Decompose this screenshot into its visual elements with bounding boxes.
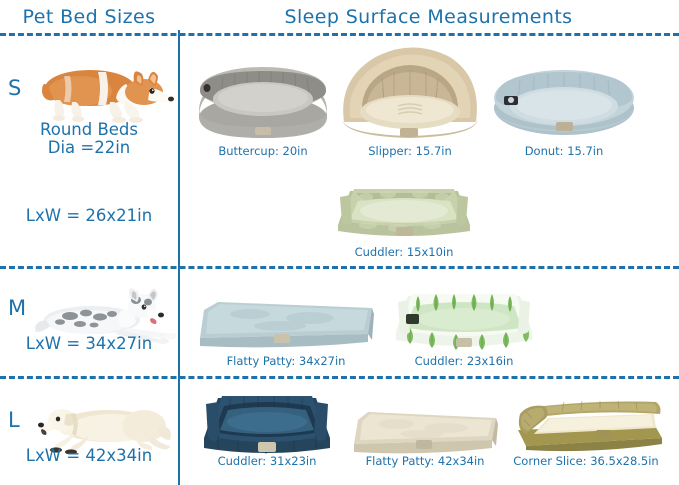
bed-label-buttercup: Buttercup: 20in (193, 144, 333, 158)
row-divider-s-m (0, 266, 679, 269)
bed-flatty-patty-large-icon (346, 404, 504, 458)
bed-donut-icon (490, 58, 638, 140)
dog-illustration-corgi (28, 58, 178, 126)
bed-slipper-icon (336, 44, 484, 140)
bed-label-flatty-patty-large: Flatty Patty: 42x34in (344, 454, 506, 468)
bed-label-cuddler-medium: Cuddler: 23x16in (388, 354, 540, 368)
medium-left-line-1: LxW = 34x27in (0, 334, 178, 353)
size-letter-l: L (8, 408, 20, 432)
page-title-right: Sleep Surface Measurements (178, 6, 679, 28)
bed-label-cuddler-small: Cuddler: 15x10in (328, 245, 480, 259)
bed-corner-slice-icon (504, 390, 668, 456)
column-divider (178, 30, 180, 485)
large-left-line-1: LxW = 42x34in (0, 446, 178, 465)
bed-label-corner-slice: Corner Slice: 36.5x28.5in (498, 454, 674, 468)
bed-buttercup-icon (193, 55, 333, 140)
bed-label-flatty-patty-medium: Flatty Patty: 34x27in (188, 354, 384, 368)
small-left-line-3: LxW = 26x21in (0, 206, 178, 225)
bed-label-donut: Donut: 15.7in (490, 144, 638, 158)
bed-cuddler-medium-icon (388, 282, 540, 354)
size-letter-m: M (8, 296, 26, 320)
size-letter-s: S (8, 76, 21, 100)
pet-bed-size-chart: Pet Bed Sizes Sleep Surface Measurements… (0, 0, 679, 485)
bed-cuddler-small-icon (328, 171, 480, 243)
bed-cuddler-large-icon (196, 388, 338, 460)
dog-illustration-labrador (32, 392, 174, 454)
page-title-left: Pet Bed Sizes (0, 6, 178, 28)
bed-label-cuddler-large: Cuddler: 31x23in (194, 454, 340, 468)
small-left-line-2: Dia =22in (0, 138, 178, 157)
header-divider (0, 33, 679, 36)
bed-flatty-patty-medium-icon (190, 292, 382, 354)
small-left-line-1: Round Beds (0, 120, 178, 139)
bed-label-slipper: Slipper: 15.7in (336, 144, 484, 158)
row-divider-m-l (0, 376, 679, 379)
